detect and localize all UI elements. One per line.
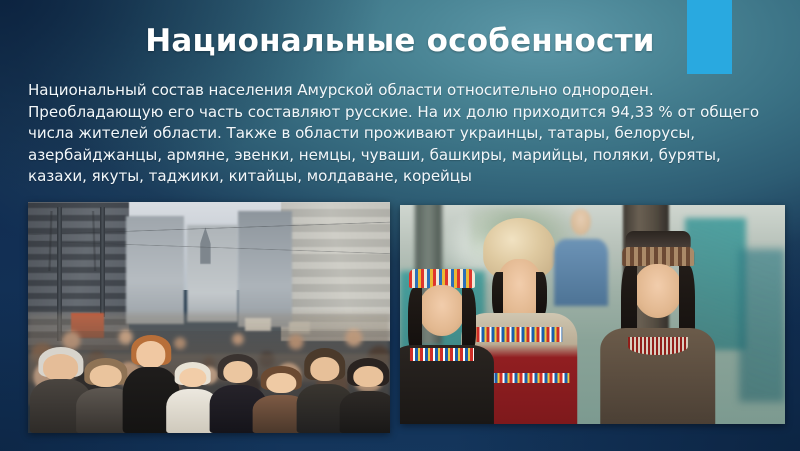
hair <box>492 272 504 317</box>
head <box>267 373 296 393</box>
overhead-wires <box>28 211 390 271</box>
face <box>634 264 683 318</box>
head <box>43 354 79 380</box>
head <box>354 366 383 387</box>
body-paragraph: Национальный состав населения Амурской о… <box>28 80 776 188</box>
traditional-dress-photo-content <box>400 205 785 424</box>
crowd-foreground <box>28 331 390 433</box>
head <box>310 357 339 381</box>
hair <box>536 272 548 317</box>
presentation-slide: Национальные особенности Национальный со… <box>0 0 800 451</box>
person-with-beaded-headband <box>400 266 492 424</box>
street-pole <box>100 207 105 318</box>
crowd-photo-content <box>28 202 390 433</box>
face <box>419 285 465 335</box>
background-person <box>554 205 608 306</box>
hair <box>408 288 422 351</box>
crowd-photo <box>28 202 390 433</box>
head <box>136 341 165 367</box>
body <box>554 239 608 305</box>
body <box>340 391 390 433</box>
head <box>179 368 206 388</box>
teal-tent-far-right <box>739 249 785 402</box>
beaded-collar <box>410 348 474 361</box>
person-with-fringed-headdress <box>600 231 716 424</box>
head <box>223 361 252 383</box>
face <box>571 209 591 235</box>
traditional-dress-photo <box>400 205 785 424</box>
hair <box>462 288 476 351</box>
crowd-person <box>343 358 390 433</box>
head <box>90 365 123 388</box>
page-title: Национальные особенности <box>0 24 800 60</box>
